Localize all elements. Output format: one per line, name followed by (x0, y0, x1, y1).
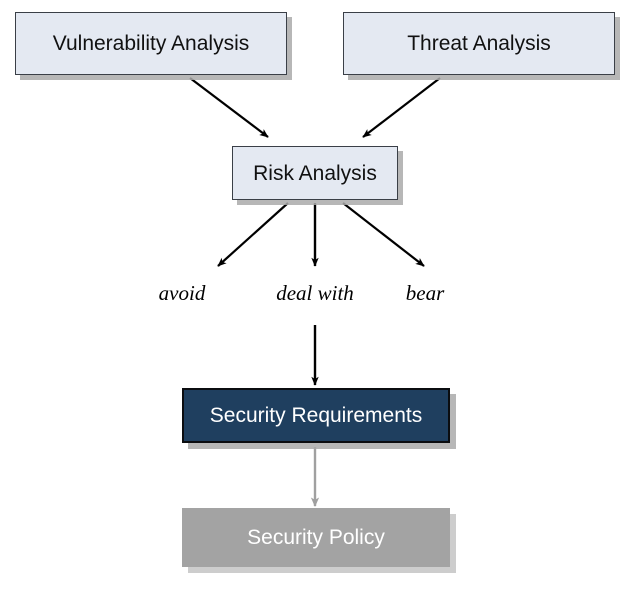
edge-label-deal-with: deal with (255, 281, 375, 306)
node-security-policy[interactable]: Security Policy (182, 508, 450, 567)
node-security-requirements[interactable]: Security Requirements (182, 388, 450, 443)
node-risk-analysis-label: Risk Analysis (253, 163, 377, 184)
edge-risk-to-avoid (218, 203, 288, 266)
edge-label-avoid: avoid (152, 281, 212, 306)
edge-risk-to-bear (343, 203, 424, 266)
node-threat-analysis-label: Threat Analysis (407, 33, 551, 54)
node-vulnerability-analysis-label: Vulnerability Analysis (53, 33, 250, 54)
node-security-policy-label: Security Policy (247, 527, 385, 548)
node-vulnerability-analysis[interactable]: Vulnerability Analysis (15, 12, 287, 75)
edge-label-bear-text: bear (406, 281, 445, 305)
edge-threat-to-risk (363, 78, 440, 137)
edge-label-bear: bear (395, 281, 455, 306)
node-risk-analysis[interactable]: Risk Analysis (232, 146, 398, 200)
diagram-canvas: Vulnerability Analysis Threat Analysis R… (0, 0, 638, 595)
edge-label-avoid-text: avoid (159, 281, 206, 305)
node-threat-analysis[interactable]: Threat Analysis (343, 12, 615, 75)
edge-vulnerability-to-risk (190, 78, 268, 137)
edge-label-deal-with-text: deal with (276, 281, 354, 305)
node-security-requirements-label: Security Requirements (210, 405, 422, 426)
